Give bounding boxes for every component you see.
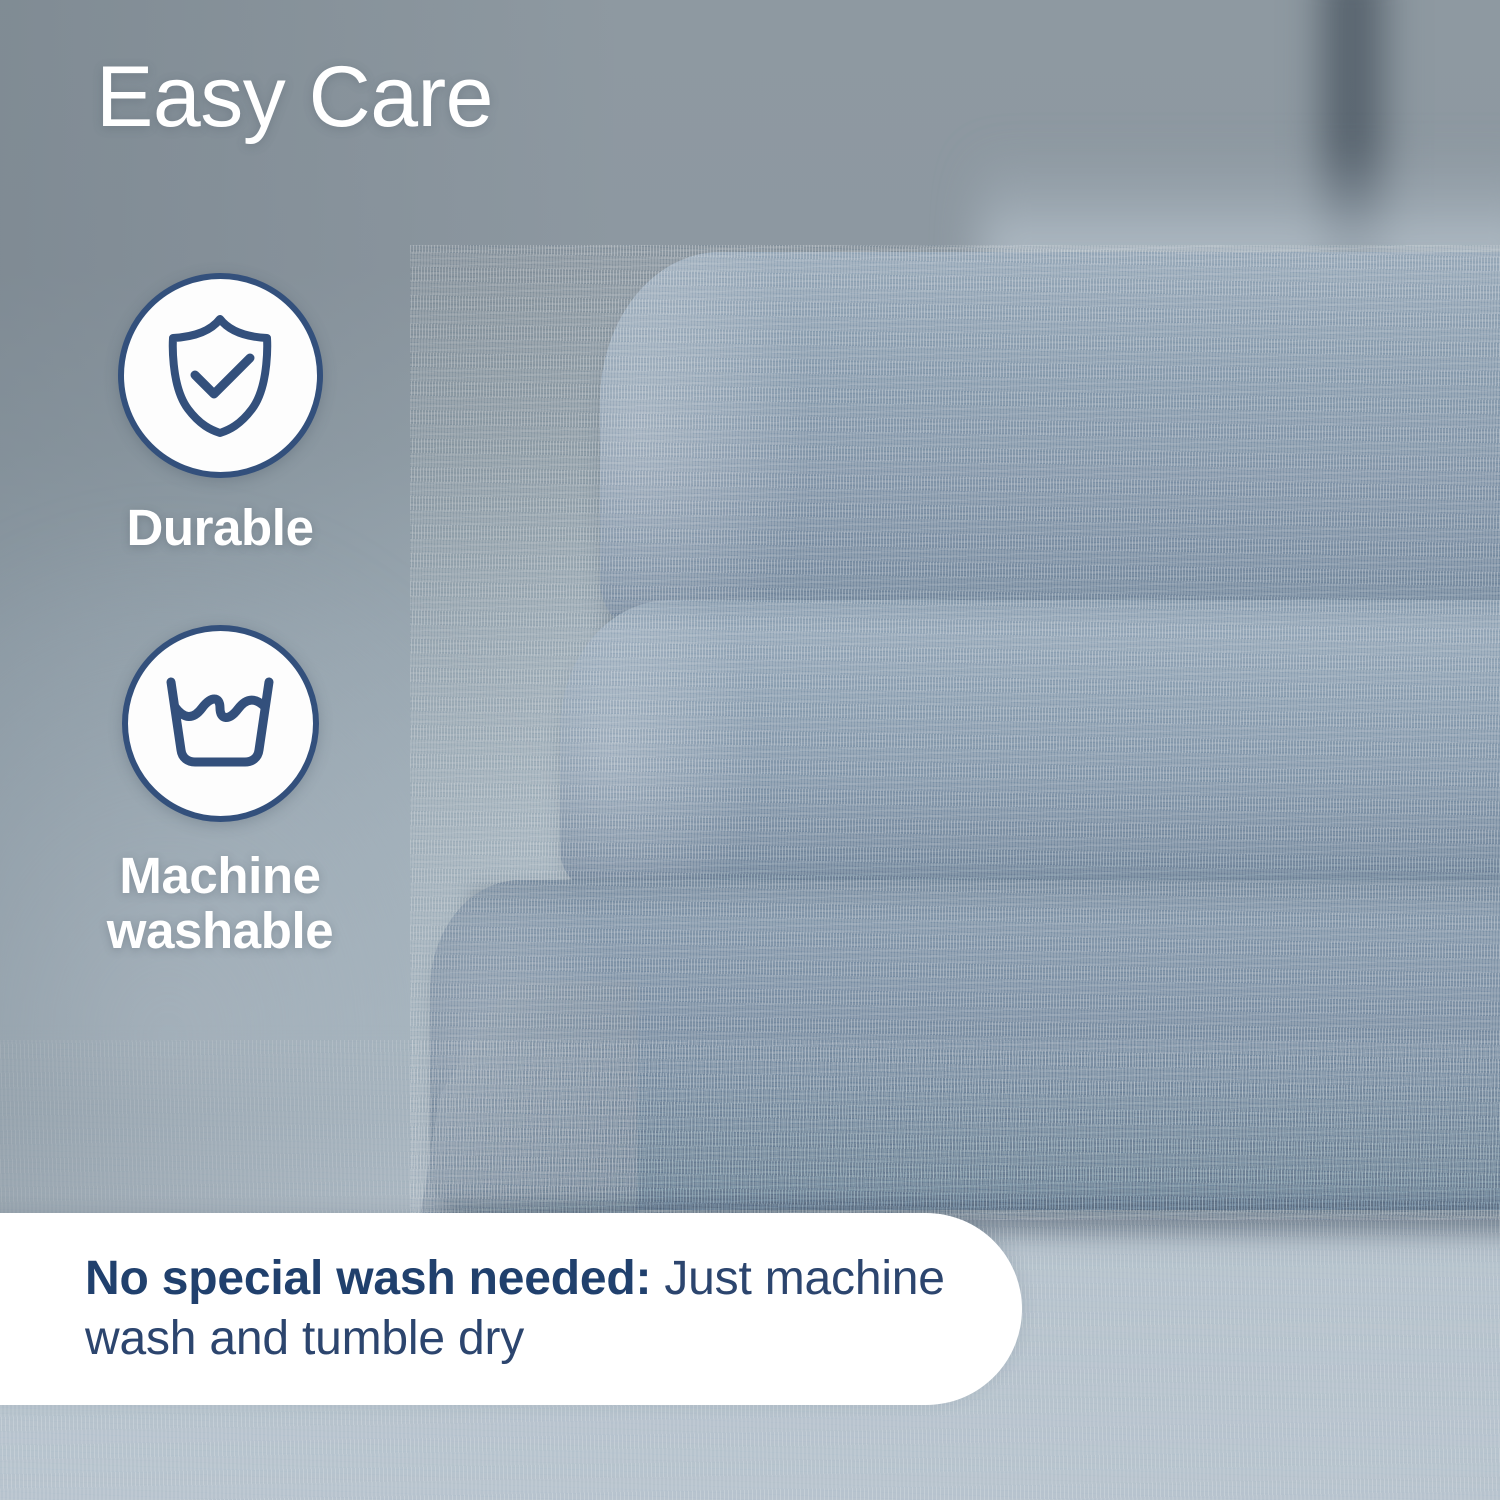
caption-banner: No special wash needed: Just machine was… xyxy=(0,1213,1022,1405)
feature-icon-badge xyxy=(122,625,319,822)
feature-label-line-1: Machine xyxy=(119,847,320,904)
feature-icon-badge xyxy=(118,273,323,478)
feature-durable: Durable xyxy=(70,273,370,555)
caption-text: No special wash needed: Just machine was… xyxy=(85,1249,962,1370)
product-feature-card: Easy Care Durable Machine washable xyxy=(0,0,1500,1500)
shield-check-icon xyxy=(161,313,279,439)
feature-label: Machine washable xyxy=(70,848,370,958)
left-vignette-overlay xyxy=(0,0,620,1230)
page-title: Easy Care xyxy=(96,52,493,142)
feature-machine-washable: Machine washable xyxy=(70,625,370,958)
caption-lead: No special wash needed: xyxy=(85,1252,651,1305)
feature-label-line-2: washable xyxy=(107,902,333,959)
wash-tub-icon xyxy=(159,674,281,774)
feature-label: Durable xyxy=(70,500,370,555)
